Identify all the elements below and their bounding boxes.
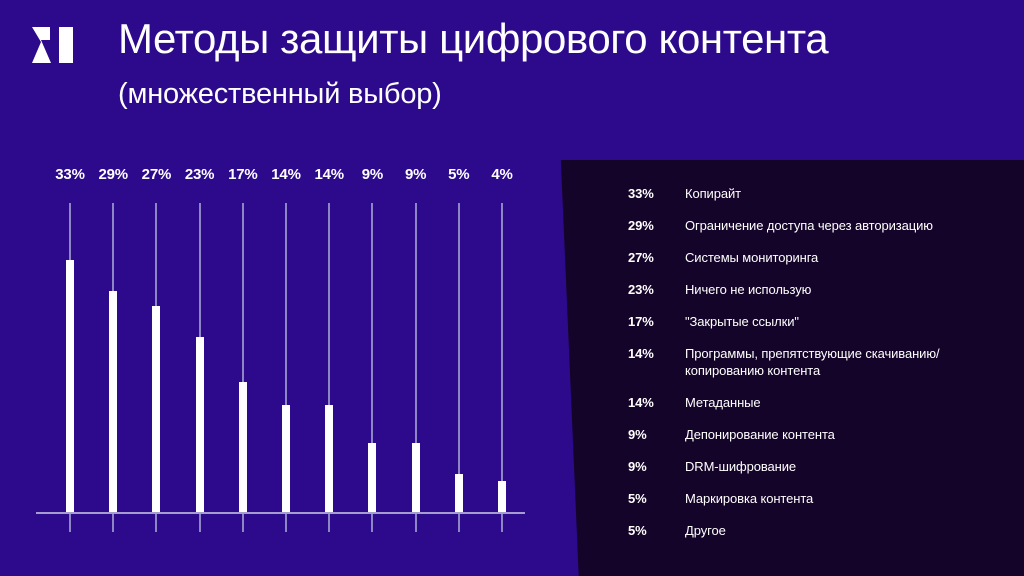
bar-fill [325,405,333,512]
bar-fill [196,337,204,512]
legend-panel: 33%Копирайт29%Ограничение доступа через … [540,160,1024,576]
legend-row: 29%Ограничение доступа через авторизацию [628,217,1008,234]
legend-label: "Закрытые ссылки" [685,313,1008,330]
legend-row: 9%DRM-шифрование [628,458,1008,475]
bar-value-label: 17% [221,166,265,183]
bar-chart: 33%29%27%23%17%14%14%9%9%5%4% [0,150,560,576]
legend-percent: 5% [628,522,685,539]
legend-percent: 14% [628,345,685,362]
legend-row: 9%Депонирование контента [628,426,1008,443]
legend-list: 33%Копирайт29%Ограничение доступа через … [628,185,1008,554]
legend-row: 23%Ничего не использую [628,281,1008,298]
bar-fill [152,306,160,512]
legend-label: Маркировка контента [685,490,1008,507]
brand-logo-icon [30,27,86,63]
bar-value-label: 14% [307,166,351,183]
bar-value-label: 29% [91,166,135,183]
legend-label: Программы, препятствующие скачиванию/коп… [685,345,1008,379]
legend-percent: 9% [628,458,685,475]
bar-value-label: 9% [350,166,394,183]
legend-label: Ограничение доступа через авторизацию [685,217,1008,234]
bar-fill [455,474,463,512]
legend-row: 17%"Закрытые ссылки" [628,313,1008,330]
legend-percent: 23% [628,281,685,298]
legend-row: 33%Копирайт [628,185,1008,202]
bar-value-label: 14% [264,166,308,183]
legend-row: 14%Метаданные [628,394,1008,411]
legend-label: Копирайт [685,185,1008,202]
bar-value-label: 27% [134,166,178,183]
bar-fill [66,260,74,512]
legend-label: Депонирование контента [685,426,1008,443]
page-title-main: Методы защиты цифрового контента [118,15,828,62]
slide-header: Методы защиты цифрового контента (множес… [0,0,1024,150]
bar-fill [282,405,290,512]
legend-row: 5%Маркировка контента [628,490,1008,507]
legend-percent: 27% [628,249,685,266]
legend-percent: 17% [628,313,685,330]
legend-percent: 33% [628,185,685,202]
legend-row: 27%Системы мониторинга [628,249,1008,266]
page-title-sub: (множественный выбор) [118,78,442,110]
bar-fill [239,382,247,512]
bar-fill [109,291,117,512]
chart-axis-line [36,512,525,514]
legend-percent: 9% [628,426,685,443]
legend-percent: 29% [628,217,685,234]
bar-value-label: 4% [480,166,524,183]
bar-value-label: 9% [394,166,438,183]
legend-label: Метаданные [685,394,1008,411]
bar-fill [498,481,506,512]
legend-row: 5%Другое [628,522,1008,539]
bar-fill [412,443,420,512]
bar-value-label: 33% [48,166,92,183]
legend-label: Другое [685,522,1008,539]
bar-fill [368,443,376,512]
bar-value-label: 23% [178,166,222,183]
legend-label: DRM-шифрование [685,458,1008,475]
legend-row: 14%Программы, препятствующие скачиванию/… [628,345,1008,379]
legend-percent: 5% [628,490,685,507]
legend-label: Системы мониторинга [685,249,1008,266]
bar-value-label: 5% [437,166,481,183]
legend-percent: 14% [628,394,685,411]
slide-canvas: Методы защиты цифрового контента (множес… [0,0,1024,576]
page-title: Методы защиты цифрового контента (множес… [118,14,938,119]
legend-label: Ничего не использую [685,281,1008,298]
